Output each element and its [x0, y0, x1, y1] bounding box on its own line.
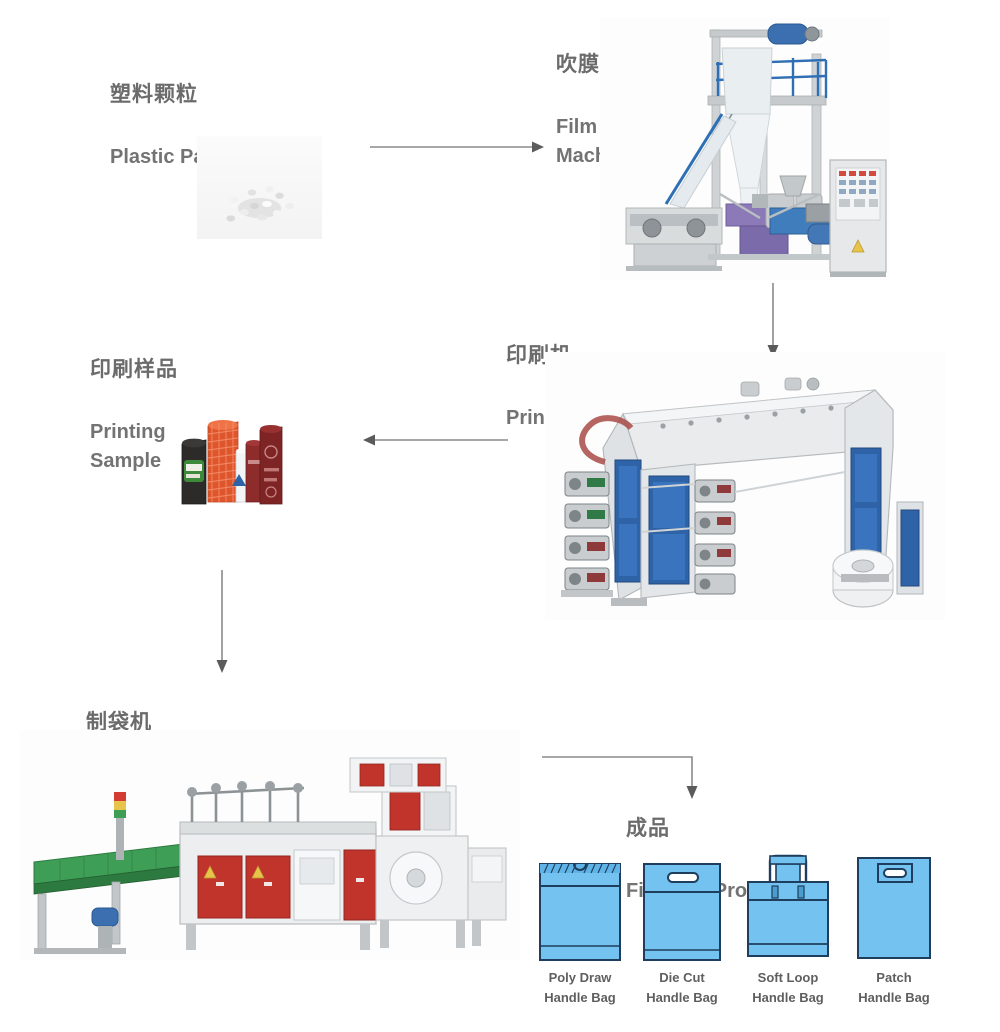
printing-machine-photo — [545, 352, 945, 620]
product-label-line2: Handle Bag — [752, 990, 824, 1005]
stage-label-cn: 印刷样品 — [90, 355, 178, 385]
product-label-line2: Handle Bag — [858, 990, 930, 1005]
bag-making-machine-photo — [20, 730, 520, 960]
product-bag-die-cut-handle-bag — [638, 858, 726, 962]
stage-label-cn: 成品 — [626, 814, 789, 844]
product-label-soft-loop-handle-bag: Soft Loop Handle Bag — [734, 968, 842, 1008]
product-label-die-cut-handle-bag: Die Cut Handle Bag — [628, 968, 736, 1008]
arrow-printing-to-sample — [362, 431, 508, 449]
product-label-line1: Poly Draw — [549, 970, 612, 985]
product-label-line1: Patch — [876, 970, 911, 985]
product-bag-patch-handle-bag — [852, 852, 936, 962]
arrow-particle-to-film — [370, 138, 545, 156]
product-bag-soft-loop-handle-bag — [742, 846, 834, 962]
product-label-poly-draw-handle-bag: Poly Draw Handle Bag — [526, 968, 634, 1008]
product-label-line1: Soft Loop — [758, 970, 819, 985]
arrow-sample-to-bagmaking — [213, 570, 231, 674]
printing-sample-photo — [176, 416, 284, 510]
arrow-film-to-printing — [764, 283, 782, 359]
stage-label-printing-sample: 印刷样品 Printing Sample — [90, 332, 178, 498]
stage-label-en: Printing Sample — [90, 418, 178, 475]
product-bag-poly-draw-handle-bag — [534, 858, 626, 962]
product-label-line2: Handle Bag — [646, 990, 718, 1005]
product-label-line2: Handle Bag — [544, 990, 616, 1005]
plastic-particle-photo — [197, 136, 322, 239]
stage-label-cn: 塑料颗粒 — [110, 80, 252, 110]
product-label-line1: Die Cut — [659, 970, 705, 985]
film-blowing-machine-photo — [600, 18, 890, 280]
product-label-patch-handle-bag: Patch Handle Bag — [840, 968, 948, 1008]
process-flow-diagram: 塑料颗粒 Plastic Particle 吹膜机 Film Blowing M… — [0, 0, 1000, 1032]
